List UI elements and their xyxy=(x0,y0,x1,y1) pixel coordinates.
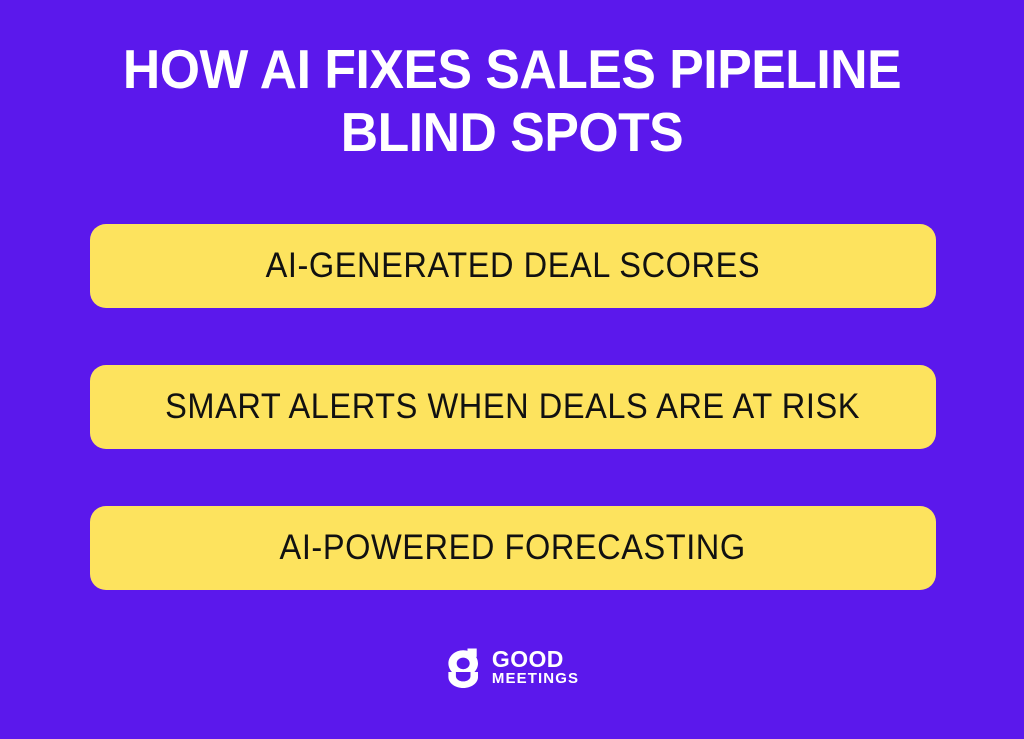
page-title: HOW AI FIXES SALES PIPELINE BLIND SPOTS xyxy=(68,38,955,164)
good-meetings-g-icon xyxy=(445,648,483,688)
infographic-poster: HOW AI FIXES SALES PIPELINE BLIND SPOTS … xyxy=(0,0,1024,739)
brand-logo: GOOD MEETINGS xyxy=(0,648,1024,688)
brand-word-meetings: MEETINGS xyxy=(492,670,579,687)
feature-bar-label: AI-POWERED FORECASTING xyxy=(280,529,746,567)
feature-bar-label: AI-GENERATED DEAL SCORES xyxy=(266,247,761,285)
feature-bar[interactable]: AI-POWERED FORECASTING xyxy=(90,506,936,590)
brand-wordmark: GOOD MEETINGS xyxy=(492,649,579,687)
feature-bar-label: SMART ALERTS WHEN DEALS ARE AT RISK xyxy=(166,388,861,426)
title-block: HOW AI FIXES SALES PIPELINE BLIND SPOTS xyxy=(0,38,1024,164)
feature-bar-list: AI-GENERATED DEAL SCORES SMART ALERTS WH… xyxy=(90,224,936,590)
feature-bar[interactable]: SMART ALERTS WHEN DEALS ARE AT RISK xyxy=(90,365,936,449)
feature-bar[interactable]: AI-GENERATED DEAL SCORES xyxy=(90,224,936,308)
brand-word-good: GOOD xyxy=(492,649,579,670)
